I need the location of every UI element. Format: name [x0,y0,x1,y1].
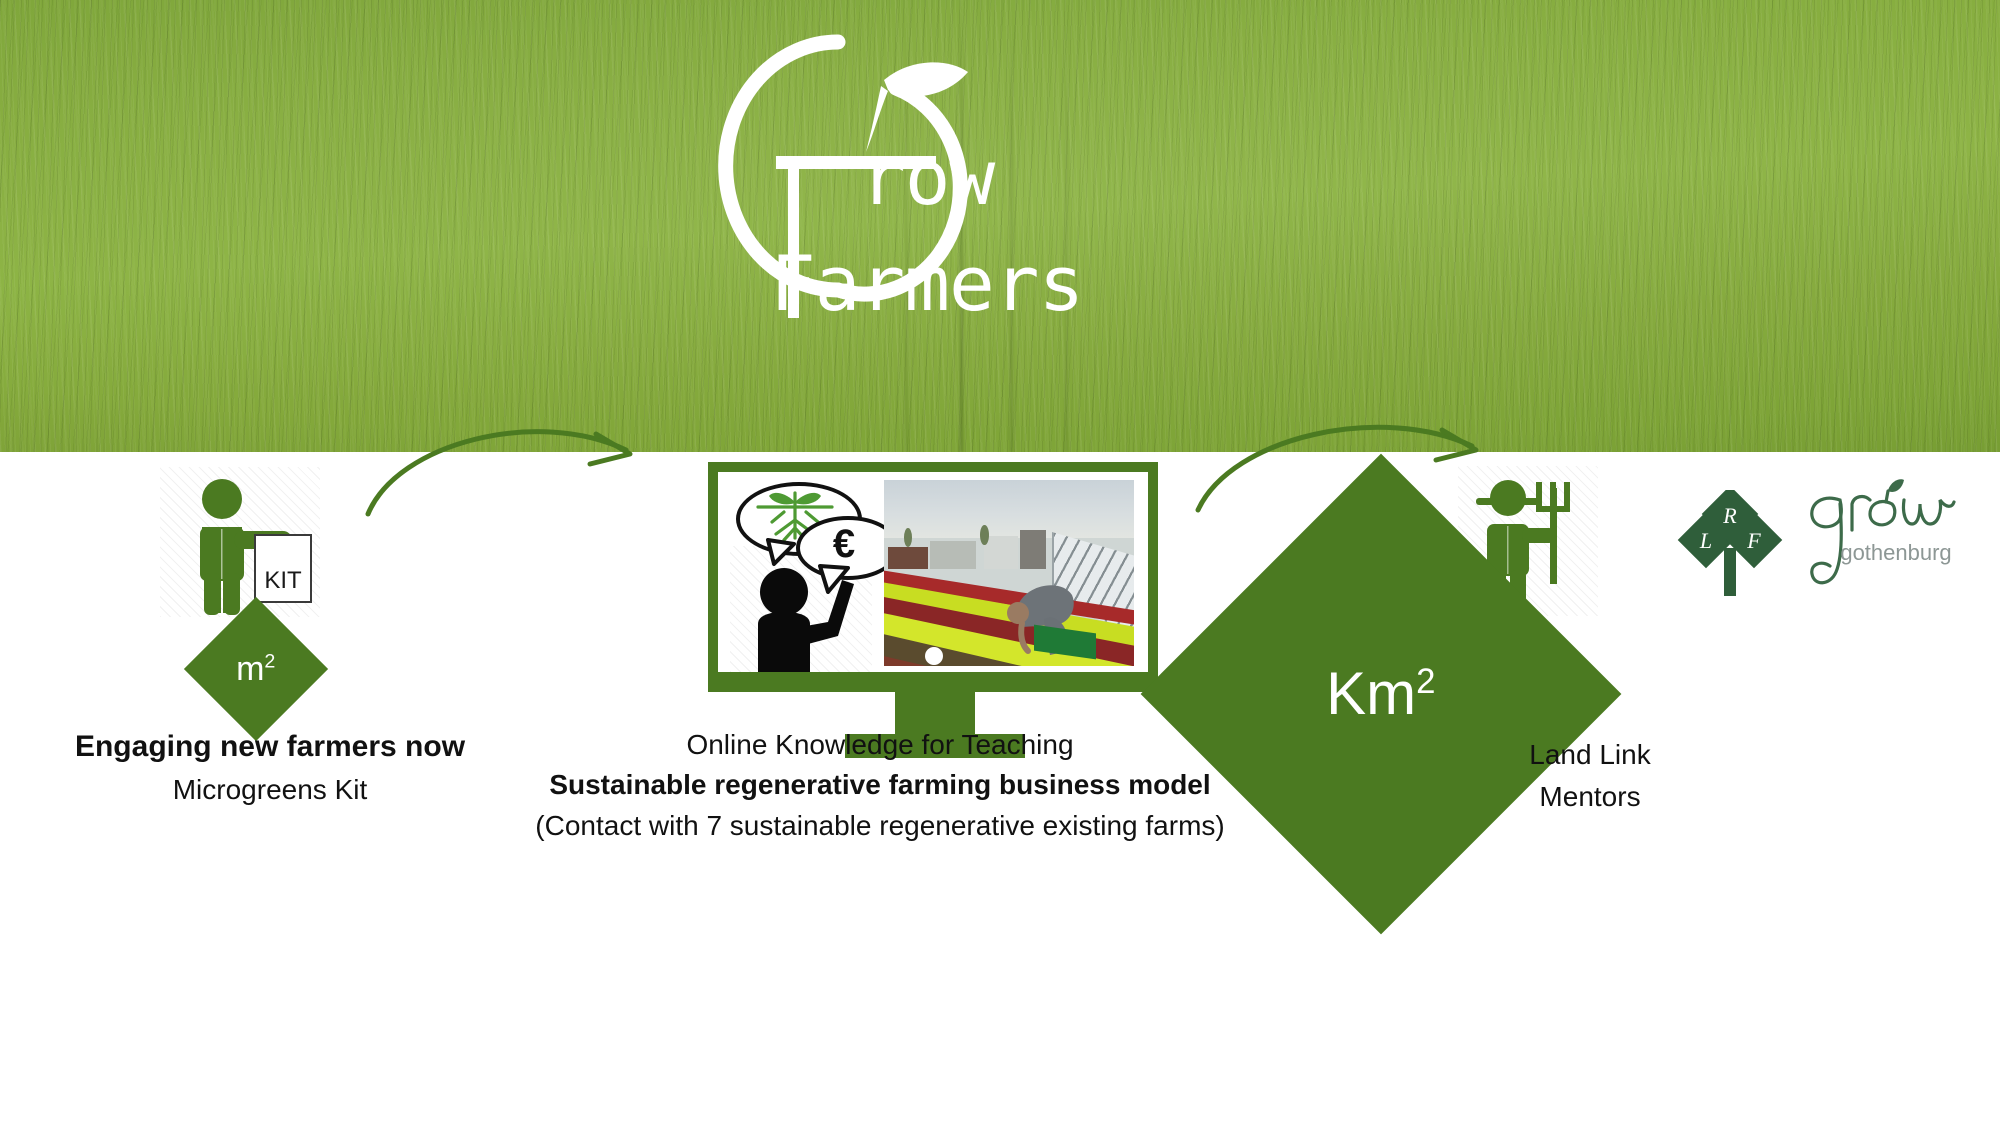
caption-left: Engaging new farmers now Microgreens Kit [20,727,520,808]
area-badge-m2-label: m2 [236,652,275,686]
caption-middle-line-2: Sustainable regenerative farming busines… [480,767,1280,803]
caption-right-line-1: Land Link [1420,737,1760,773]
content-area: KIT m2 Engaging new farmers now Microgre… [0,452,2000,1125]
photo-tree [904,528,912,547]
photo-tree [980,525,989,545]
monitor-screen: € [718,472,1148,672]
kit-box-label: KIT [264,569,301,601]
caption-left-line-2: Microgreens Kit [20,772,520,808]
monitor-camera-dot [925,647,943,665]
logo-word-farmers: Farmers [770,246,1083,322]
photo-sky [884,480,1134,538]
lrf-letter-f: F [1746,528,1761,553]
lrf-clover-logo: L R F [1670,490,1790,610]
caption-middle-line-3: (Contact with 7 sustainable regenerative… [480,808,1280,844]
lettuce-field-photo [884,480,1134,666]
caption-right-line-2: Mentors [1420,779,1760,815]
caption-right: Land Link Mentors [1420,737,1760,816]
arrow-left-to-middle [358,412,648,522]
caption-middle: Online Knowledge for Teaching Sustainabl… [480,727,1280,844]
grow-farmers-logo: row Farmers [638,28,1038,318]
hero-banner: row Farmers [0,0,2000,452]
kit-box: KIT [254,534,312,603]
photo-building [888,547,928,569]
grow-gothenburg-logo: gothenburg [1800,474,1980,604]
caption-left-line-1: Engaging new farmers now [20,727,520,766]
grow-gothenburg-subword: gothenburg [1840,540,1951,565]
photo-building [930,541,976,569]
caption-middle-line-1: Online Knowledge for Teaching [480,727,1280,763]
photo-building [1020,530,1046,569]
photo-building [984,536,1018,569]
slide-canvas: row Farmers [0,0,2000,1125]
lrf-letter-l: L [1699,528,1712,553]
lrf-letter-r: R [1722,503,1737,528]
area-badge-km2-label: Km2 [1326,664,1435,724]
logo-word-row: row [860,140,994,216]
presenter-silhouette-icon [742,568,872,672]
